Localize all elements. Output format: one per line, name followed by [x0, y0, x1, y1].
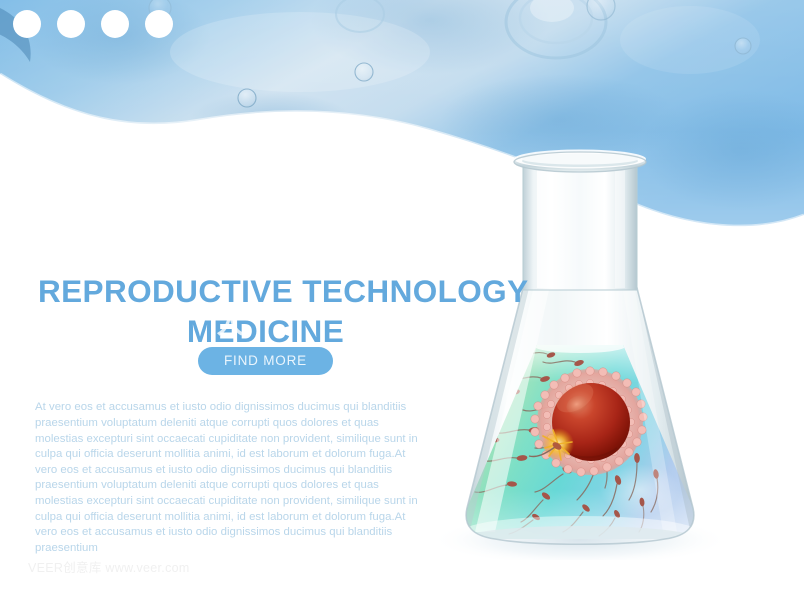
find-more-button[interactable]: FIND MORE — [198, 347, 333, 375]
decor-dot-2 — [57, 10, 85, 38]
flask-rim — [514, 150, 646, 173]
decor-dot-3 — [101, 10, 129, 38]
decor-dot-4 — [145, 10, 173, 38]
decor-dot-1 — [13, 10, 41, 38]
headline-line-2: MEDICINE — [38, 311, 493, 351]
headline-line-1: REPRODUCTIVE TECHNOLOGY — [38, 271, 493, 311]
cta-container: FIND MORE — [38, 347, 493, 375]
illustration-canvas: REPRODUCTIVE TECHNOLOGY MEDICINE FIND MO… — [0, 0, 804, 590]
body-paragraph: At vero eos et accusamus et iusto odio d… — [35, 400, 420, 556]
bottom-watermark: VEER创意库 www.veer.com — [28, 557, 190, 576]
page-title: REPRODUCTIVE TECHNOLOGY MEDICINE — [38, 271, 493, 351]
